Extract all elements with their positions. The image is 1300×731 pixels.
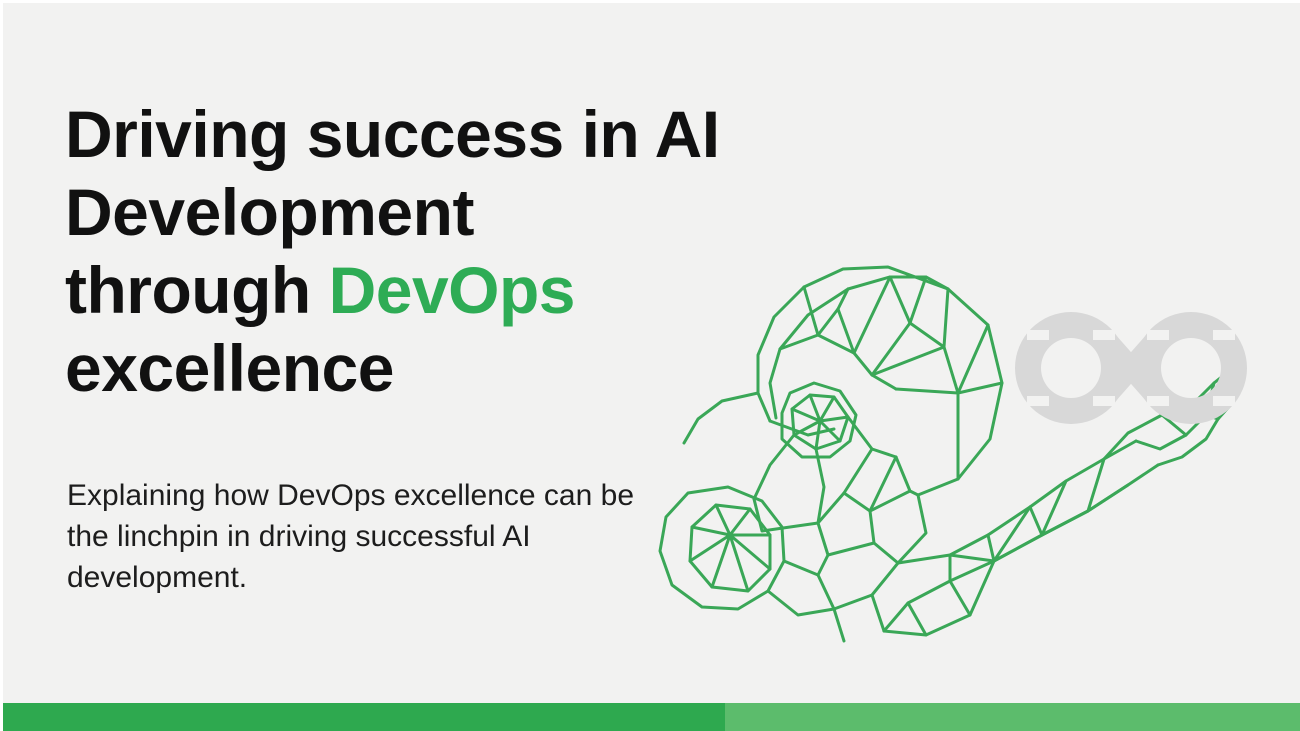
subtitle-text: Explaining how DevOps excellence can be …	[67, 475, 667, 598]
bottom-bar-left-segment	[3, 703, 725, 731]
slide: Driving success in AI Development throug…	[0, 0, 1300, 731]
slide-canvas: Driving success in AI Development throug…	[3, 3, 1300, 731]
bottom-bar-right-segment	[725, 703, 1300, 731]
bottom-accent-bar	[3, 703, 1300, 731]
devops-infinity-loop-icon	[1011, 308, 1251, 428]
robotic-arm-wireframe-icon	[658, 243, 1238, 643]
headline-line-3: excellence	[65, 331, 394, 405]
headline-line-1: Driving success in AI Development	[65, 97, 720, 249]
headline-accent-devops: DevOps	[329, 253, 575, 327]
headline-line-2-prefix: through	[65, 253, 329, 327]
